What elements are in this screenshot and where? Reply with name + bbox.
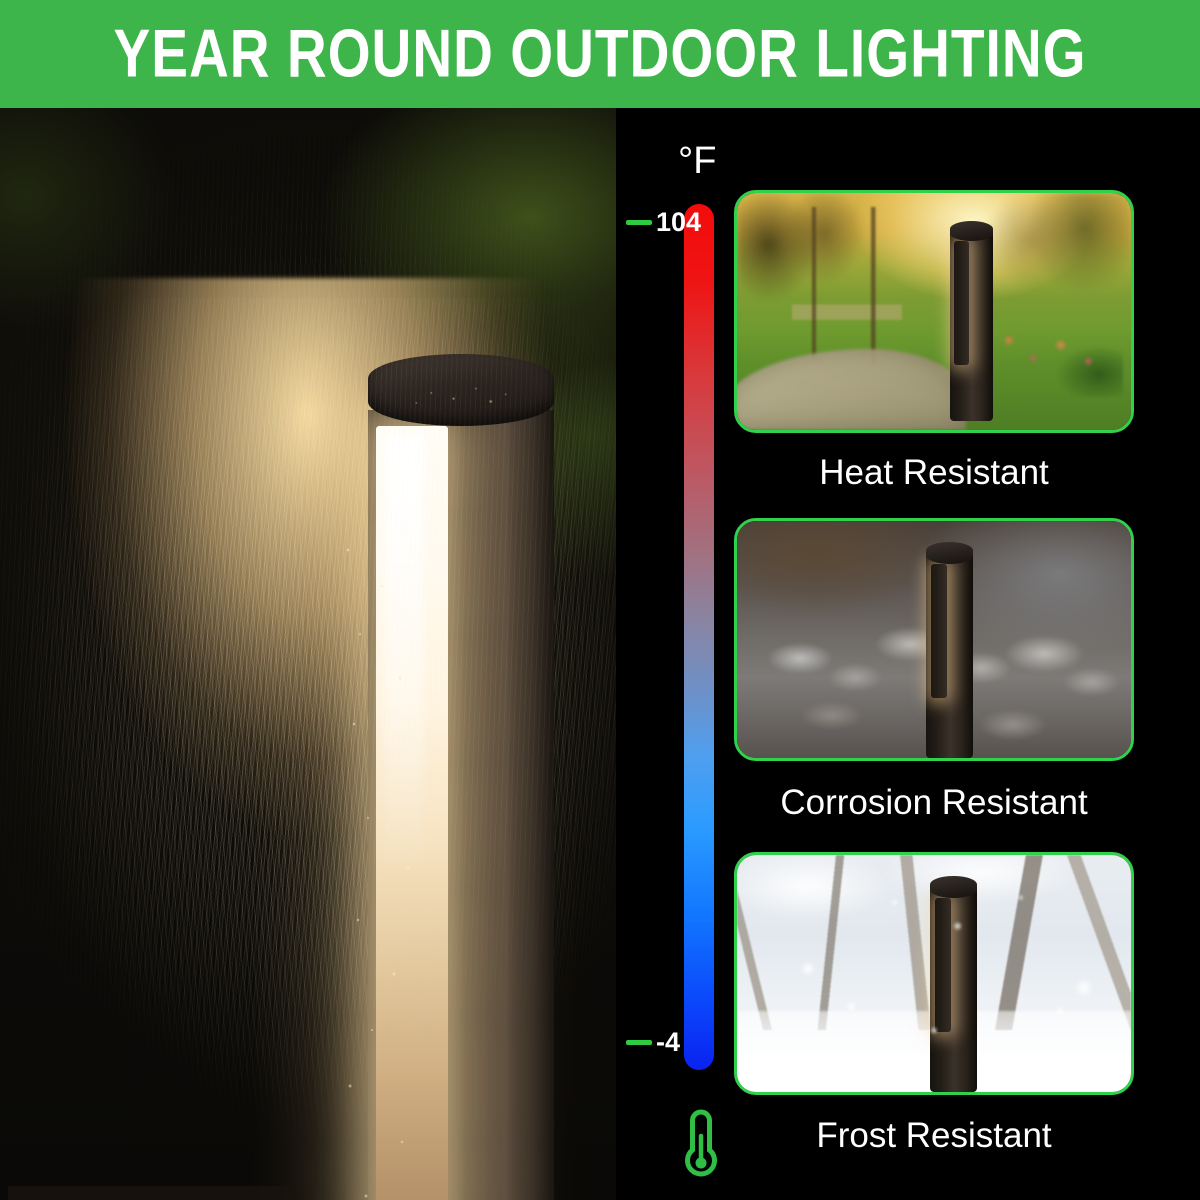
min-temperature-tick (626, 1040, 652, 1045)
max-temperature-label: 104 (656, 209, 701, 236)
feature-caption-heat: Heat Resistant (734, 455, 1134, 490)
bollard-top-cap (950, 221, 993, 241)
max-temperature-tick (626, 220, 652, 225)
temperature-gradient-bar (684, 204, 714, 1070)
feature-caption-corrosion: Corrosion Resistant (714, 785, 1154, 820)
product-feature-poster: YEAR ROUND OUTDOOR LIGHTING (0, 0, 1200, 1200)
falling-snowflakes (737, 855, 1131, 1092)
hero-image: IP65 Waterproof (0, 108, 616, 1200)
thermometer-icon (676, 1106, 726, 1182)
garden-swing (792, 207, 902, 363)
bollard-light-thumbnail (950, 221, 993, 420)
page-title: YEAR ROUND OUTDOOR LIGHTING (113, 15, 1086, 93)
temperature-unit-label: °F (678, 142, 716, 180)
bollard-light-lens (954, 241, 969, 364)
feature-card-heat[interactable] (734, 190, 1134, 433)
min-temperature-label: -4 (656, 1029, 680, 1056)
hero-rain-veil (0, 108, 616, 1200)
feature-caption-frost: Frost Resistant (734, 1118, 1134, 1153)
feature-card-corrosion[interactable] (734, 518, 1134, 761)
bollard-light-lens (931, 564, 947, 698)
bollard-top-cap (926, 542, 973, 564)
header-banner: YEAR ROUND OUTDOOR LIGHTING (0, 0, 1200, 108)
ip65-waterproof-badge: IP65 Waterproof (8, 1186, 294, 1200)
feature-card-frost[interactable] (734, 852, 1134, 1095)
bollard-light-thumbnail (926, 542, 973, 758)
